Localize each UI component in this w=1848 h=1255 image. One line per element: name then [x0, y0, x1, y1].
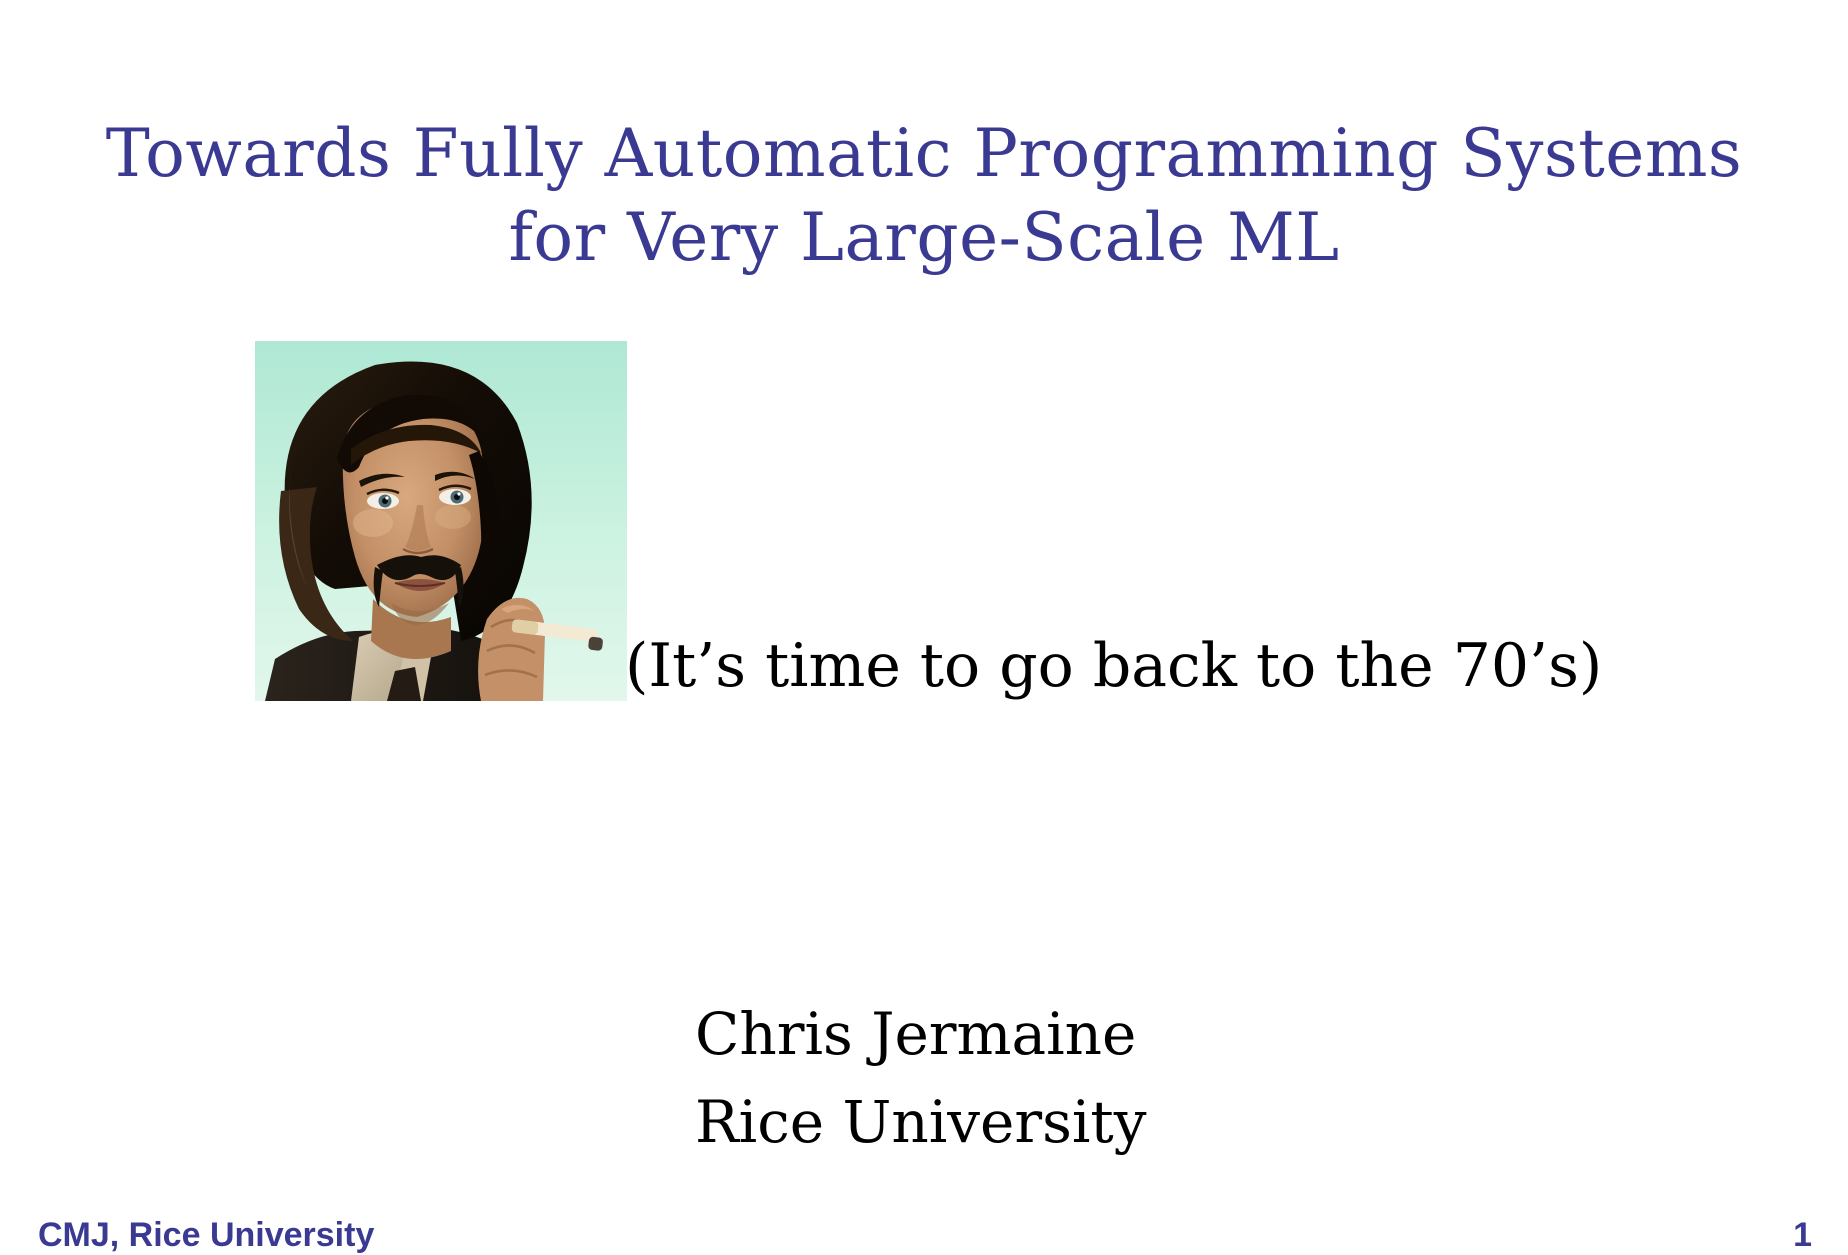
slide-canvas: Towards Fully Automatic Programming Syst… [0, 0, 1848, 1254]
page-title: Towards Fully Automatic Programming Syst… [0, 112, 1848, 281]
title-line-1: Towards Fully Automatic Programming Syst… [0, 112, 1848, 196]
author-block: Chris Jermaine Rice University [695, 990, 1146, 1166]
author-affiliation: Rice University [695, 1078, 1146, 1166]
subtitle-text: (It’s time to go back to the 70’s) [625, 630, 1602, 702]
footer-page-number: 1 [1793, 1216, 1812, 1255]
author-name: Chris Jermaine [695, 990, 1146, 1078]
title-line-2: for Very Large-Scale ML [0, 196, 1848, 280]
portrait-photo-graphic [255, 341, 627, 701]
footer-attribution: CMJ, Rice University [38, 1216, 374, 1255]
portrait-photo [255, 341, 627, 701]
